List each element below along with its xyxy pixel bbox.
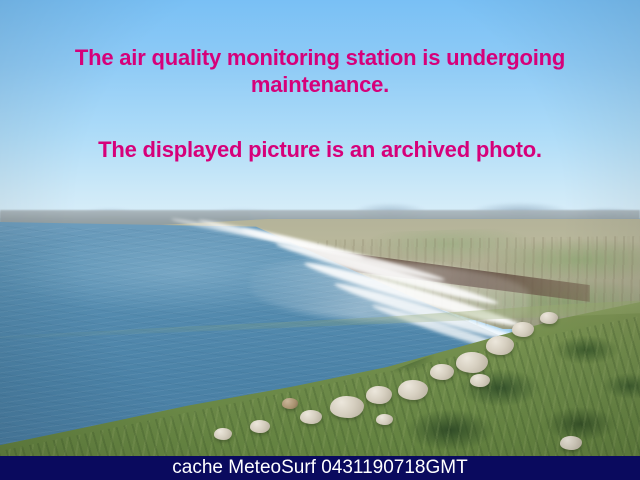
caption-bar: cache MeteoSurf 0431190718GMT (0, 456, 640, 480)
boulder (366, 386, 392, 404)
caption-text: cache MeteoSurf 0431190718GMT (172, 456, 467, 480)
boulder (376, 414, 393, 425)
boulder (456, 352, 488, 373)
boulder (540, 312, 558, 324)
boulder (512, 322, 534, 337)
boulder (398, 380, 428, 400)
boulder (250, 420, 270, 433)
boulder (470, 374, 490, 387)
boulder (560, 436, 582, 450)
archived-photo-notice: The displayed picture is an archived pho… (20, 136, 620, 163)
boulder (282, 398, 298, 409)
boulder (300, 410, 322, 424)
overlay-messages: The air quality monitoring station is un… (0, 0, 640, 200)
webcam-frame: The air quality monitoring station is un… (0, 0, 640, 480)
boulder (214, 428, 232, 440)
boulder (486, 336, 514, 355)
boulder (430, 364, 454, 380)
maintenance-notice: The air quality monitoring station is un… (20, 44, 620, 98)
boulder (330, 396, 364, 418)
